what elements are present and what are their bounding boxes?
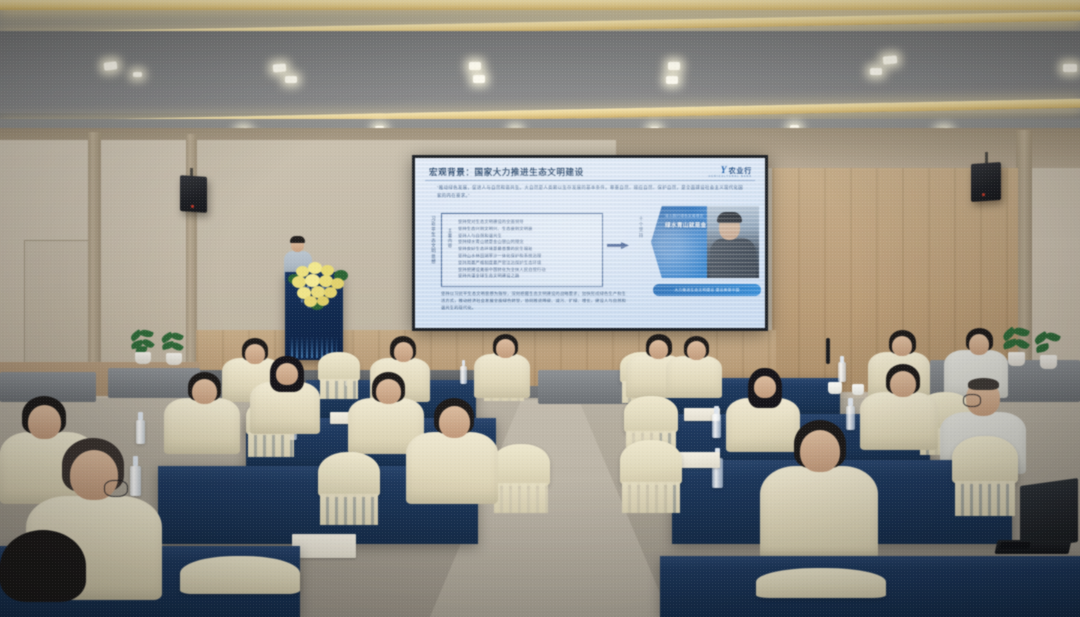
slide-list-item: 坚持党对生态文明建设的全面领导 bbox=[458, 219, 597, 226]
slide-hexagon-graphic: 深入践行绿色发展理念 绿水青山就是金山银山 bbox=[651, 206, 759, 278]
slide-banner-text: 大力推进生态文明建设 建设美丽中国 bbox=[653, 284, 761, 296]
recessed-downlight bbox=[870, 68, 882, 75]
flower-arrangement bbox=[286, 256, 348, 312]
wall-mounted-loudspeaker-right bbox=[971, 162, 1001, 202]
recessed-downlight bbox=[273, 63, 287, 72]
slide-list-item: 坚持生态兴则文明兴、生态衰则文明衰 bbox=[458, 226, 597, 233]
recessed-downlight bbox=[469, 62, 481, 70]
wall-mounted-loudspeaker-left bbox=[180, 175, 207, 213]
audience-member bbox=[406, 398, 498, 504]
wall-column bbox=[88, 132, 101, 394]
water-bottle bbox=[838, 356, 846, 382]
recessed-downlight bbox=[666, 76, 678, 84]
recessed-downlight bbox=[473, 75, 485, 83]
slide-list-item: 坚持良好生态环境是最普惠的民生福祉 bbox=[458, 246, 597, 253]
slide-list-item: 坚持共谋全球生态文明建设之路 bbox=[458, 273, 597, 280]
slide-vertical-label: 习近平生态文明思想 bbox=[429, 216, 438, 264]
cove-light-strip bbox=[0, 0, 1080, 10]
audience-member bbox=[0, 530, 110, 617]
recessed-downlight bbox=[133, 72, 142, 77]
audience-member-with-long-hair bbox=[250, 356, 320, 434]
projection-screen: 宏观背景：国家大力推进生态文明建设 “推动绿色发展，促进人与自然和谐共生。大自然… bbox=[412, 155, 768, 331]
audience-member bbox=[760, 420, 878, 560]
slide-logo-subtext: AGRICULTURAL BANK bbox=[708, 175, 752, 178]
ceiling-coffer-upper bbox=[0, 31, 1080, 113]
teacup bbox=[828, 382, 842, 394]
paper-document bbox=[676, 452, 720, 468]
banquet-chair bbox=[756, 568, 886, 617]
banquet-chair bbox=[952, 436, 1018, 514]
water-bottle bbox=[460, 360, 467, 384]
slide-title-rule bbox=[425, 180, 755, 181]
microphone bbox=[826, 338, 830, 364]
potted-plant bbox=[128, 330, 158, 364]
banquet-chair bbox=[180, 556, 300, 617]
audience-member bbox=[164, 372, 240, 454]
audience-member bbox=[474, 334, 530, 398]
banquet-chair bbox=[318, 452, 380, 524]
slide-footer-text: 坚持以习近平生态文明思想为指导，深刻把握生态文明建设的战略要求，加快形成绿色生产… bbox=[441, 290, 626, 311]
slide-arrow-icon bbox=[607, 242, 629, 249]
slide-content-box: 主要内容 坚持党对生态文明建设的全面领导坚持生态兴则文明兴、生态衰则文明衰坚持人… bbox=[441, 213, 603, 287]
audience-member bbox=[666, 336, 722, 398]
slide-bullet-list: 坚持党对生态文明建设的全面领导坚持生态兴则文明兴、生态衰则文明衰坚持人与自然和谐… bbox=[458, 219, 597, 280]
slide-right-vertical-label: 十个坚持 bbox=[637, 216, 645, 238]
slide-hex-subtitle: 深入践行绿色发展理念 bbox=[665, 214, 703, 219]
slide-quote: “推动绿色发展，促进人与自然和谐共生。大自然是人类赖以生存发展的基本条件。尊重自… bbox=[437, 184, 743, 199]
slide-list-item: 坚持用最严格制度最严密法治保护生态环境 bbox=[458, 260, 597, 267]
water-bottle bbox=[712, 406, 721, 438]
recessed-downlight bbox=[285, 76, 297, 83]
recessed-downlight bbox=[883, 55, 898, 64]
slide-list-item: 坚持山水林田湖草沙一体化保护和系统治理 bbox=[458, 253, 597, 260]
potted-plant bbox=[1032, 332, 1064, 370]
presentation-slide: 宏观背景：国家大力推进生态文明建设 “推动绿色发展，促进人与自然和谐共生。大自然… bbox=[415, 158, 765, 328]
recessed-downlight bbox=[668, 62, 680, 70]
slide-portrait-photo bbox=[707, 206, 759, 278]
recessed-downlight bbox=[104, 61, 118, 71]
slide-banner-pill: 大力推进生态文明建设 建设美丽中国 bbox=[653, 284, 761, 296]
slide-box-tag: 主要内容 bbox=[446, 228, 454, 248]
potted-plant bbox=[158, 332, 188, 366]
slide-title: 宏观背景：国家大力推进生态文明建设 bbox=[429, 166, 584, 178]
banquet-chair bbox=[492, 444, 550, 512]
banquet-chair bbox=[620, 440, 682, 512]
smartphone[interactable] bbox=[999, 542, 1031, 549]
recessed-downlight bbox=[1063, 64, 1077, 72]
slide-logo-text: 农业行 bbox=[729, 166, 752, 176]
conference-room-photo: 宏观背景：国家大力推进生态文明建设 “推动绿色发展，促进人与自然和谐共生。大自然… bbox=[0, 0, 1080, 617]
paper-document bbox=[292, 534, 356, 558]
